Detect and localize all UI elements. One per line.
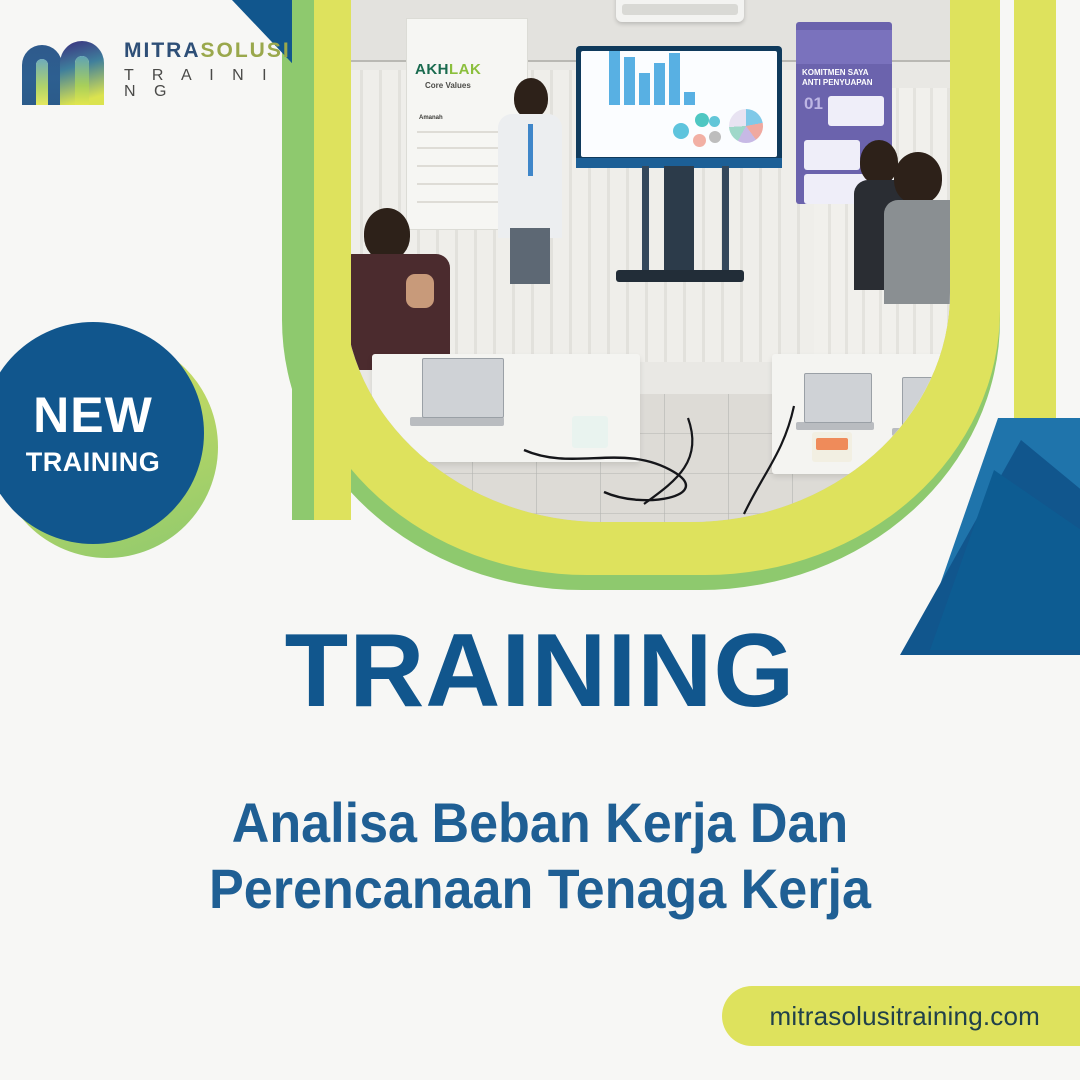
logo-solusi: SOLUSI	[201, 39, 291, 62]
dashboard-bar	[654, 63, 665, 105]
new-training-badge[interactable]: NEW TRAINING	[0, 322, 232, 572]
website-url-pill[interactable]: mitrasolusitraining.com	[722, 986, 1080, 1046]
air-conditioner-icon	[616, 0, 744, 22]
course-subtitle-line-1: Analisa Beban Kerja Dan	[38, 790, 1042, 856]
dashboard-bar	[669, 53, 680, 105]
participant-right-front-head	[894, 152, 942, 204]
dashboard-bubble	[673, 123, 689, 139]
dashboard-bar	[624, 57, 635, 105]
page-title: TRAINING	[0, 612, 1080, 731]
komitmen-banner-header	[796, 30, 892, 64]
dashboard-screen-content	[581, 51, 777, 157]
poster-canvas: AKHLAK Core Values Amanah KOMITMEN SAYA …	[0, 0, 1080, 1080]
komitmen-number-1: 01	[804, 94, 823, 114]
mitra-solusi-m-icon	[20, 33, 114, 107]
dashboard-bar	[639, 73, 650, 105]
logo-line-2: T R A I N I N G	[124, 68, 291, 100]
logo-mitra: MITRA	[124, 39, 201, 62]
left-yellow-stripe	[314, 0, 351, 520]
presentation-display	[576, 46, 782, 168]
akhlak-title-part2: LAK	[449, 61, 481, 78]
course-subtitle: Analisa Beban Kerja Dan Perencanaan Tena…	[38, 790, 1042, 922]
photo-room-scene: AKHLAK Core Values Amanah KOMITMEN SAYA …	[344, 0, 950, 522]
logo-line-1: MITRASOLUSI	[124, 40, 291, 61]
dashboard-bubble	[693, 134, 706, 147]
dashboard-bar	[684, 92, 695, 105]
akhlak-title-part1: AKH	[415, 61, 449, 78]
participant-right-front-shirt	[884, 200, 950, 304]
badge-new-label: NEW	[33, 390, 153, 440]
display-stand-leg-left	[642, 166, 649, 276]
display-stand-column	[664, 166, 694, 276]
website-url-text: mitrasolusitraining.com	[770, 1001, 1040, 1032]
komitmen-banner-title: KOMITMEN SAYA ANTI PENYUAPAN	[802, 68, 886, 88]
presenter-person	[496, 78, 566, 278]
dashboard-bar	[609, 51, 620, 105]
participant-left-head	[364, 208, 410, 260]
akhlak-banner-title: AKHLAK	[415, 61, 481, 78]
participant-right-front-person	[884, 152, 950, 302]
komitmen-card-1	[828, 96, 884, 126]
presenter-head	[514, 78, 548, 118]
komitmen-line2: ANTI PENYUAPAN	[802, 78, 873, 87]
dashboard-pie-chart	[729, 109, 763, 143]
training-photo: AKHLAK Core Values Amanah KOMITMEN SAYA …	[344, 0, 950, 522]
left-green-stripe	[292, 0, 314, 520]
display-stand-base	[616, 270, 744, 282]
komitmen-card-2	[804, 140, 860, 170]
akhlak-banner-subtitle: Core Values	[425, 81, 471, 90]
participant-left-hands	[406, 274, 434, 308]
brand-logo[interactable]: MITRASOLUSI T R A I N I N G	[20, 28, 282, 112]
akhlak-item-1: Amanah	[419, 115, 443, 121]
dashboard-bubble	[709, 116, 720, 127]
badge-training-label: TRAINING	[26, 449, 161, 476]
presenter-lanyard	[528, 124, 533, 176]
komitmen-line1: KOMITMEN SAYA	[802, 68, 869, 77]
course-subtitle-line-2: Perencanaan Tenaga Kerja	[38, 856, 1042, 922]
logo-wordmark: MITRASOLUSI T R A I N I N G	[124, 40, 291, 100]
display-stand-leg-right	[722, 166, 729, 276]
dashboard-bubble	[695, 113, 709, 127]
presenter-trousers	[510, 228, 550, 284]
dashboard-bubble	[709, 131, 721, 143]
cables	[344, 322, 950, 522]
